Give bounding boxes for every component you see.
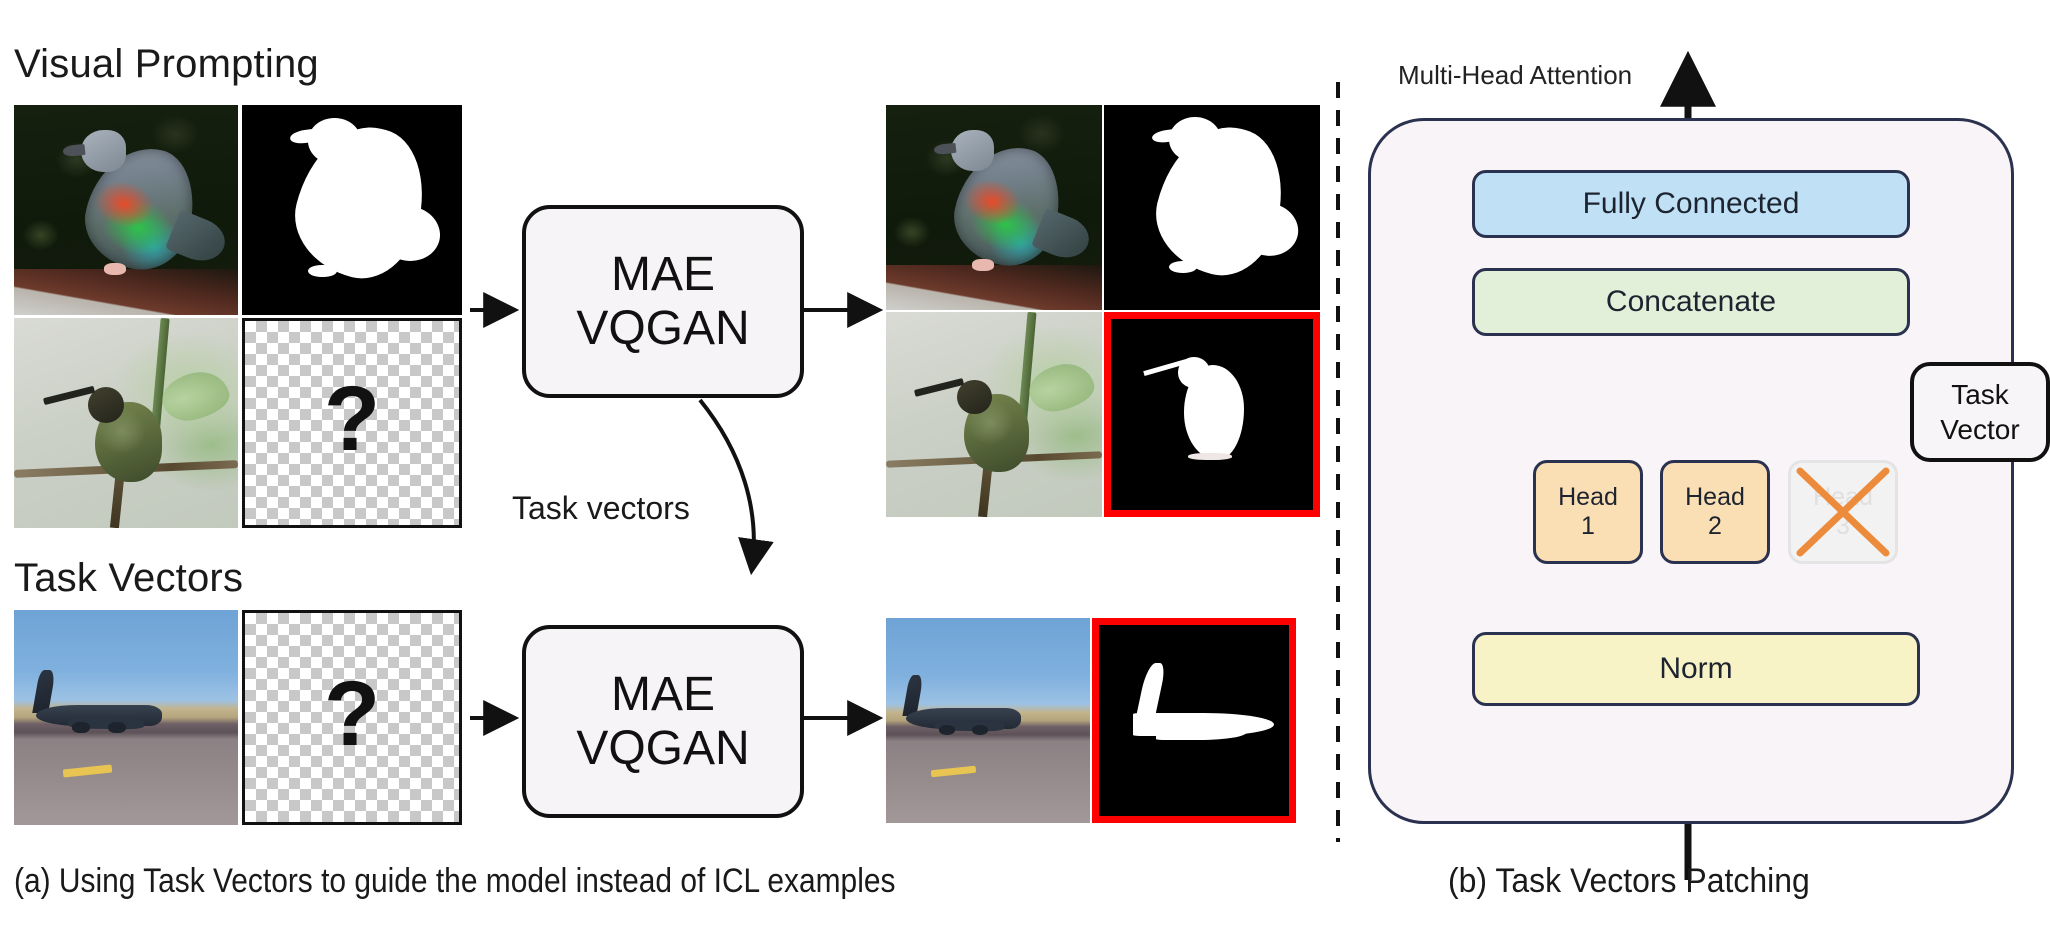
question-mark-glyph: ?	[324, 373, 380, 465]
task-vector-label-line1: Task	[1951, 377, 2009, 412]
query-placeholder-bottom: ?	[242, 610, 462, 825]
cross-out-icon	[1791, 463, 1895, 561]
hummingbird-photo	[14, 318, 238, 528]
task-vector-box[interactable]: Task Vector	[1910, 362, 2050, 462]
head-1-label-line1: Head	[1558, 483, 1618, 512]
task-vectors-heading: Task Vectors	[14, 556, 243, 601]
attention-head-3-patched-out[interactable]: Head 3	[1788, 460, 1898, 564]
head-2-label-line1: Head	[1685, 483, 1745, 512]
fully-connected-block[interactable]: Fully Connected	[1472, 170, 1910, 238]
mae-vqgan-line2: VQGAN	[576, 302, 749, 356]
airplane-photo	[14, 610, 238, 825]
head-2-label-line2: 2	[1708, 512, 1722, 541]
norm-block[interactable]: Norm	[1472, 632, 1920, 706]
concatenate-block[interactable]: Concatenate	[1472, 268, 1910, 336]
norm-label: Norm	[1659, 652, 1732, 687]
multi-head-attention-label: Multi-Head Attention	[1398, 60, 1632, 91]
mae-vqgan-bottom-line1: MAE	[611, 668, 715, 722]
pigeon-photo-out	[886, 105, 1102, 310]
task-vectors-arrow-label: Task vectors	[512, 490, 690, 527]
mae-vqgan-box-bottom[interactable]: MAE VQGAN	[522, 625, 804, 818]
airplane-photo-out	[886, 618, 1090, 823]
caption-a: (a) Using Task Vectors to guide the mode…	[14, 862, 895, 901]
mae-vqgan-bottom-line2: VQGAN	[576, 722, 749, 776]
pigeon-mask	[242, 105, 462, 315]
hummingbird-mask-pred	[1104, 312, 1320, 517]
visual-prompting-heading: Visual Prompting	[14, 42, 319, 87]
pigeon-mask-out	[1104, 105, 1320, 310]
task-vector-label-line2: Vector	[1940, 412, 2019, 447]
pigeon-photo	[14, 105, 238, 315]
concatenate-label: Concatenate	[1606, 285, 1776, 320]
mae-vqgan-line1: MAE	[611, 248, 715, 302]
fully-connected-label: Fully Connected	[1583, 187, 1800, 222]
mae-vqgan-box-top[interactable]: MAE VQGAN	[522, 205, 804, 398]
caption-b: (b) Task Vectors Patching	[1448, 862, 1810, 901]
airplane-mask-pred	[1092, 618, 1296, 823]
head-1-label-line2: 1	[1581, 512, 1595, 541]
attention-head-2[interactable]: Head 2	[1660, 460, 1770, 564]
question-mark-glyph-bottom: ?	[324, 668, 380, 760]
query-placeholder-top: ?	[242, 318, 462, 528]
attention-head-1[interactable]: Head 1	[1533, 460, 1643, 564]
hummingbird-photo-out	[886, 312, 1102, 517]
